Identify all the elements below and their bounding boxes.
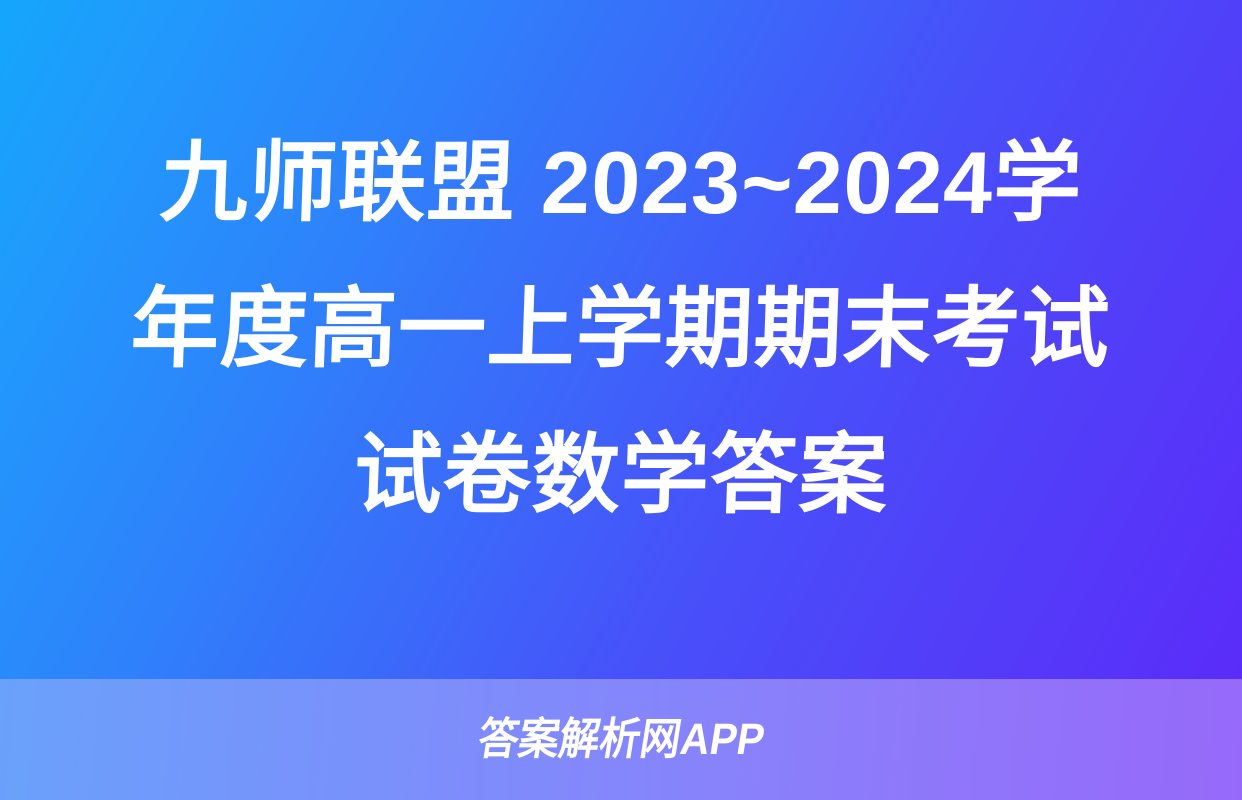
title-line-2: 年度高一上学期期末考试 (129, 256, 1113, 402)
app-brand-label: 答案解析网APP (474, 714, 768, 766)
exam-answer-cover-card: 九师联盟 2023~2024学 年度高一上学期期末考试 试卷数学答案 答案解析网… (0, 0, 1242, 800)
title-line-1: 九师联盟 2023~2024学 (157, 110, 1084, 256)
footer-brand-band: 答案解析网APP (0, 679, 1242, 800)
hero-gradient-banner: 九师联盟 2023~2024学 年度高一上学期期末考试 试卷数学答案 (0, 0, 1242, 679)
page-title: 九师联盟 2023~2024学 年度高一上学期期末考试 试卷数学答案 (0, 0, 1242, 679)
title-line-3: 试卷数学答案 (351, 402, 890, 548)
